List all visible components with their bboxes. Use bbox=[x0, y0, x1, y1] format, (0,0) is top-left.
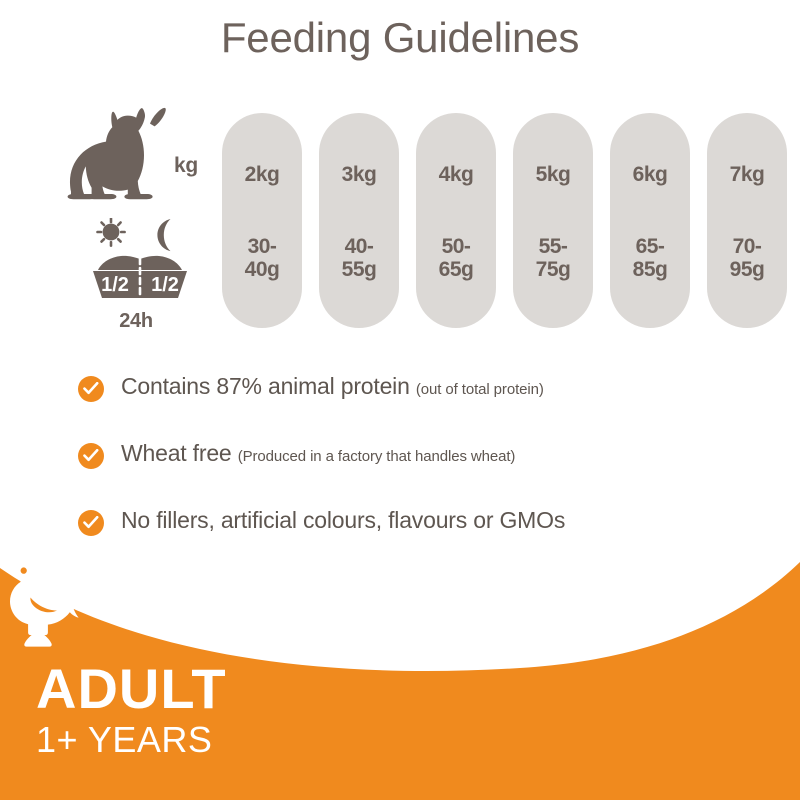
feeding-column: 7kg 70- 95g bbox=[707, 113, 787, 328]
claim-item: Wheat free (Produced in a factory that h… bbox=[78, 445, 778, 469]
amount-line-2: 85g bbox=[610, 258, 690, 281]
amount-line-1: 70- bbox=[707, 235, 787, 258]
feeding-guidelines-panel: Feeding Guidelines kg bbox=[0, 0, 800, 800]
amount-line-1: 40- bbox=[319, 235, 399, 258]
amount-line-1: 50- bbox=[416, 235, 496, 258]
column-weight: 5kg bbox=[513, 163, 593, 187]
feeding-table: kg bbox=[0, 104, 800, 344]
column-amount: 55- 75g bbox=[513, 235, 593, 281]
weight-row: kg bbox=[66, 106, 216, 206]
period-label: 24h bbox=[84, 310, 188, 333]
amount-line-1: 30- bbox=[222, 235, 302, 258]
banner-text-block: ADULT 1+ YEARS bbox=[36, 662, 227, 760]
portion-row: 1/2 1/2 24h bbox=[84, 218, 216, 338]
column-weight: 6kg bbox=[610, 163, 690, 187]
column-weight: 4kg bbox=[416, 163, 496, 187]
check-icon bbox=[78, 443, 104, 469]
amount-line-2: 65g bbox=[416, 258, 496, 281]
life-stage-banner: ADULT 1+ YEARS bbox=[0, 540, 800, 800]
claim-main: No fillers, artificial colours, flavours… bbox=[121, 507, 565, 533]
amount-line-2: 75g bbox=[513, 258, 593, 281]
feeding-columns: 2kg 30- 40g 3kg 40- 55g 4kg 50- 65g bbox=[222, 113, 788, 333]
claim-main: Wheat free bbox=[121, 440, 232, 466]
feeding-column: 6kg 65- 85g bbox=[610, 113, 690, 328]
column-amount: 40- 55g bbox=[319, 235, 399, 281]
claim-text: Wheat free (Produced in a factory that h… bbox=[121, 440, 515, 467]
sun-icon bbox=[98, 219, 125, 246]
chicken-icon bbox=[0, 540, 90, 650]
weight-unit-label: kg bbox=[174, 154, 198, 178]
amount-line-1: 65- bbox=[610, 235, 690, 258]
feeding-column: 2kg 30- 40g bbox=[222, 113, 302, 328]
moon-icon bbox=[157, 219, 170, 251]
age-range-label: 1+ YEARS bbox=[36, 720, 227, 760]
page-title: Feeding Guidelines bbox=[0, 14, 800, 62]
amount-line-2: 40g bbox=[222, 258, 302, 281]
feeding-column: 4kg 50- 65g bbox=[416, 113, 496, 328]
claim-item: No fillers, artificial colours, flavours… bbox=[78, 512, 778, 536]
column-weight: 7kg bbox=[707, 163, 787, 187]
check-icon bbox=[78, 376, 104, 402]
column-amount: 65- 85g bbox=[610, 235, 690, 281]
column-weight: 3kg bbox=[319, 163, 399, 187]
claim-sub: (out of total protein) bbox=[416, 381, 544, 398]
column-weight: 2kg bbox=[222, 163, 302, 187]
cat-icon bbox=[66, 106, 174, 206]
feeding-row-icons: kg bbox=[66, 104, 216, 339]
evening-portion-label: 1/2 bbox=[151, 274, 179, 296]
claim-main: Contains 87% animal protein bbox=[121, 373, 410, 399]
amount-line-2: 95g bbox=[707, 258, 787, 281]
life-stage-label: ADULT bbox=[36, 662, 227, 716]
claim-sub: (Produced in a factory that handles whea… bbox=[238, 448, 516, 465]
check-icon bbox=[78, 510, 104, 536]
column-amount: 70- 95g bbox=[707, 235, 787, 281]
column-amount: 50- 65g bbox=[416, 235, 496, 281]
amount-line-2: 55g bbox=[319, 258, 399, 281]
claim-item: Contains 87% animal protein (out of tota… bbox=[78, 378, 778, 402]
feeding-column: 5kg 55- 75g bbox=[513, 113, 593, 328]
claim-text: Contains 87% animal protein (out of tota… bbox=[121, 373, 544, 400]
amount-line-1: 55- bbox=[513, 235, 593, 258]
claim-text: No fillers, artificial colours, flavours… bbox=[121, 507, 565, 534]
feeding-column: 3kg 40- 55g bbox=[319, 113, 399, 328]
morning-portion-label: 1/2 bbox=[101, 274, 129, 296]
column-amount: 30- 40g bbox=[222, 235, 302, 281]
